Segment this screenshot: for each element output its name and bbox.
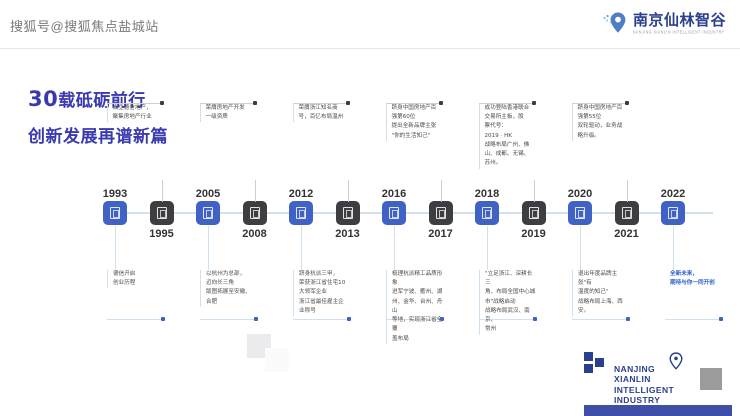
footer-logo-line-0: NANJING [614,364,674,374]
timeline-connector-2008 [255,180,256,202]
event-text-line: 略升级。 [578,132,630,141]
timeline-marker-2022[interactable] [661,201,685,225]
timeline-event-2019: 成功登陆香港联合交易所主板，股票代号：2019 · HK战略布局广州、佛山、成都… [479,104,537,169]
timeline-year-2008: 2008 [225,228,285,240]
decor-square-faint [265,348,289,372]
calendar-icon [668,207,678,219]
footer-bar [584,405,732,416]
timeline-connector-2020 [580,226,581,270]
timeline-marker-2017[interactable] [429,201,453,225]
timeline-tip-2022 [719,317,723,321]
pin-svg [603,11,627,37]
footer-logo-squares [584,352,614,374]
event-text-line: 角、布局全国中心城 [485,288,537,297]
event-text-line: 荣膺房地产开发 [206,104,258,113]
calendar-icon [436,207,446,219]
event-text-line: 大领军企业 [299,288,351,297]
event-text-line: 等地，实现浙江省全覆 [392,316,444,334]
event-text-line: 州、金华、台州、舟山 [392,298,444,316]
timeline-event-2005: 以杭州为总部，迈向长三角版图拓展至安徽、合肥 [200,270,258,307]
timeline-year-2020: 2020 [550,188,610,200]
event-text-line: 跻身杭派三甲， [299,270,351,279]
event-text-line: 合肥 [206,298,258,307]
timeline-year-2018: 2018 [457,188,517,200]
timeline-event-1995: 成立德信地产，聚集房地产行业 [107,104,165,122]
calendar-icon [203,207,213,219]
event-text-line: 市"战略启动 [485,298,537,307]
footer-logo-line-2: INDUSTRY [614,395,674,405]
top-bar: 搜狐号@搜狐焦点盐城站 南京仙林智谷 NANJING XIANLIN INTEL… [0,0,740,49]
timeline-tip-2019 [532,101,536,105]
calendar-icon [529,207,539,219]
event-text-line: 进军宁波、衢州、湖 [392,288,444,297]
timeline-connector-1993 [115,226,116,270]
event-text-line: 业称号 [299,307,351,316]
calendar-icon [157,207,167,219]
event-text-line: 荣获浙江省住宅10 [299,279,351,288]
timeline-year-2019: 2019 [504,228,564,240]
brand-text: 南京仙林智谷 NANJING XIANLIN INTELLIGENT INDUS… [633,13,726,34]
event-text-line: 迈向长三角 [206,279,258,288]
timeline-event-2020: 退出年度品牌主张"有温度的知己"战略布局上海、西安。 [572,270,630,316]
timeline-connector-1995 [162,180,163,202]
timeline-tip-2008 [253,101,257,105]
event-text-line: 成立德信地产， [113,104,165,113]
timeline-year-2012: 2012 [271,188,331,200]
event-text-line: 跻身中国房地产百 [578,104,630,113]
slide-canvas: 搜狐号@搜狐焦点盐城站 南京仙林智谷 NANJING XIANLIN INTEL… [0,0,740,416]
event-text-line: 浙江省最佳雇主企 [299,298,351,307]
timeline-connector-2019 [534,180,535,202]
timeline-year-2016: 2016 [364,188,424,200]
event-text-line: 跻身中国房地产百 [392,104,444,113]
timeline-marker-2005[interactable] [196,201,220,225]
event-text-line: 战略布局上海、西安。 [578,298,630,316]
footer-logo-text: NANJING XIANLIN INTELLIGENT INDUSTRY [614,364,674,405]
brand-logo[interactable]: 南京仙林智谷 NANJING XIANLIN INTELLIGENT INDUS… [603,11,726,37]
event-text-line: 荣膺浙江知名商 [299,104,351,113]
event-text-line: 号，百亿布局温州 [299,113,351,122]
brand-name-en: NANJING XIANLIN INTELLIGENT INDUSTRY [633,31,726,35]
timeline-tip-2018 [533,317,537,321]
timeline-connector-2021 [627,180,628,202]
timeline-connector-2012 [301,226,302,270]
footer-logo: NANJING XIANLIN INTELLIGENT INDUSTRY [584,352,614,374]
brand-name-cn: 南京仙林智谷 [633,13,726,28]
timeline-connector-2016 [394,226,395,270]
calendar-icon [250,207,260,219]
timeline-marker-2020[interactable] [568,201,592,225]
event-text-line: 德信开启 [113,270,165,279]
timeline-lead-1993 [107,319,163,320]
timeline-marker-1993[interactable] [103,201,127,225]
timeline-marker-2018[interactable] [475,201,499,225]
event-text-line: "你的生活知己" [392,132,444,141]
event-text-line: 温度的知己" [578,288,630,297]
event-text-line: 苏州。 [485,159,537,168]
timeline-year-2005: 2005 [178,188,238,200]
event-text-line: 全新未来， [670,270,723,279]
timeline-event-1993: 德信开启创业历程 [107,270,165,288]
timeline-tip-2016 [440,317,444,321]
calendar-icon [482,207,492,219]
event-text-line: 提出全新品牌主张 [392,122,444,131]
calendar-icon [343,207,353,219]
event-text-line: 2019 · HK [485,132,537,141]
timeline-connector-2017 [441,180,442,202]
event-text-line: 强第55位 [578,113,630,122]
timeline-marker-2012[interactable] [289,201,313,225]
event-text-line: 盖布局 [392,335,444,344]
calendar-icon [110,207,120,219]
timeline-lead-2022 [665,319,721,320]
event-text-line: 强第60位 [392,113,444,122]
page-title-number: 30 [28,87,58,111]
timeline-connector-2022 [673,226,674,270]
event-text-line: 战略布局武汉、南京、 [485,307,537,325]
timeline-lead-2005 [200,319,256,320]
event-text-line: 一级资质 [206,113,258,122]
footer-logo-line-1: XIANLIN INTELLIGENT [614,374,674,395]
timeline-year-1993: 1993 [85,188,145,200]
calendar-icon [622,207,632,219]
timeline-tip-2017 [439,101,443,105]
timeline-event-2016: 梳理杭派精工品质形象进军宁波、衢州、湖州、金华、台州、舟山等地，实现浙江省全覆盖… [386,270,444,344]
event-text-line: 创业历程 [113,279,165,288]
timeline-event-2012: 跻身杭派三甲，荣获浙江省住宅10大领军企业浙江省最佳雇主企业称号 [293,270,351,316]
timeline-tip-1995 [160,101,164,105]
calendar-icon [389,207,399,219]
event-text-line: 双轮驱动，业务战 [578,122,630,131]
event-text-line: 版图拓展至安徽、 [206,288,258,297]
timeline-event-2008: 荣膺房地产开发一级资质 [200,104,258,122]
timeline-event-2017: 跻身中国房地产百强第60位提出全新品牌主张"你的生活知己" [386,104,444,141]
timeline-marker-1995[interactable] [150,201,174,225]
timeline-event-2022: 全新未来，期待与你一同开创 [665,270,723,288]
event-text-line: "立足浙江、深耕长三 [485,270,537,288]
sohu-account-label: 搜狐号@搜狐焦点盐城站 [10,16,159,35]
calendar-icon [575,207,585,219]
timeline-lead-2012 [293,319,349,320]
event-text-line: 战略布局广州、佛 [485,141,537,150]
timeline-tip-2020 [626,317,630,321]
event-text-line: 常州 [485,325,537,334]
event-text-line: 以杭州为总部， [206,270,258,279]
timeline-tip-2013 [346,101,350,105]
timeline-event-2018: "立足浙江、深耕长三角、布局全国中心城市"战略启动战略布局武汉、南京、常州 [479,270,537,335]
calendar-icon [296,207,306,219]
timeline-marker-2016[interactable] [382,201,406,225]
decor-square-mid [700,368,722,390]
event-text-line: 期待与你一同开创 [670,279,723,288]
event-text-line: 聚集房地产行业 [113,113,165,122]
timeline-tip-2012 [347,317,351,321]
timeline-marker-2008[interactable] [243,201,267,225]
event-text-line: 退出年度品牌主张"有 [578,270,630,288]
timeline-tip-2005 [254,317,258,321]
event-text-line: 交易所主板，股 [485,113,537,122]
timeline-marker-2021[interactable] [615,201,639,225]
timeline-year-2017: 2017 [411,228,471,240]
timeline-event-2021: 跻身中国房地产百强第55位双轮驱动，业务战略升级。 [572,104,630,141]
timeline-year-2013: 2013 [318,228,378,240]
timeline-event-2013: 荣膺浙江知名商号，百亿布局温州 [293,104,351,122]
event-text-line: 成功登陆香港联合 [485,104,537,113]
timeline-year-1995: 1995 [132,228,192,240]
timeline-year-2022: 2022 [643,188,703,200]
timeline-marker-2013[interactable] [336,201,360,225]
location-pin-icon [603,11,627,37]
timeline-tip-1993 [161,317,165,321]
timeline-marker-2019[interactable] [522,201,546,225]
event-text-line: 山、成都、无锡、 [485,150,537,159]
timeline-connector-2013 [348,180,349,202]
timeline-connector-2005 [208,226,209,270]
event-text-line: 梳理杭派精工品质形象 [392,270,444,288]
page-title-line2: 创新发展再谱新篇 [28,122,168,147]
timeline-year-2021: 2021 [597,228,657,240]
timeline-lead-2020 [572,319,628,320]
event-text-line: 票代号： [485,122,537,131]
timeline-connector-2018 [487,226,488,270]
timeline-tip-2021 [625,101,629,105]
